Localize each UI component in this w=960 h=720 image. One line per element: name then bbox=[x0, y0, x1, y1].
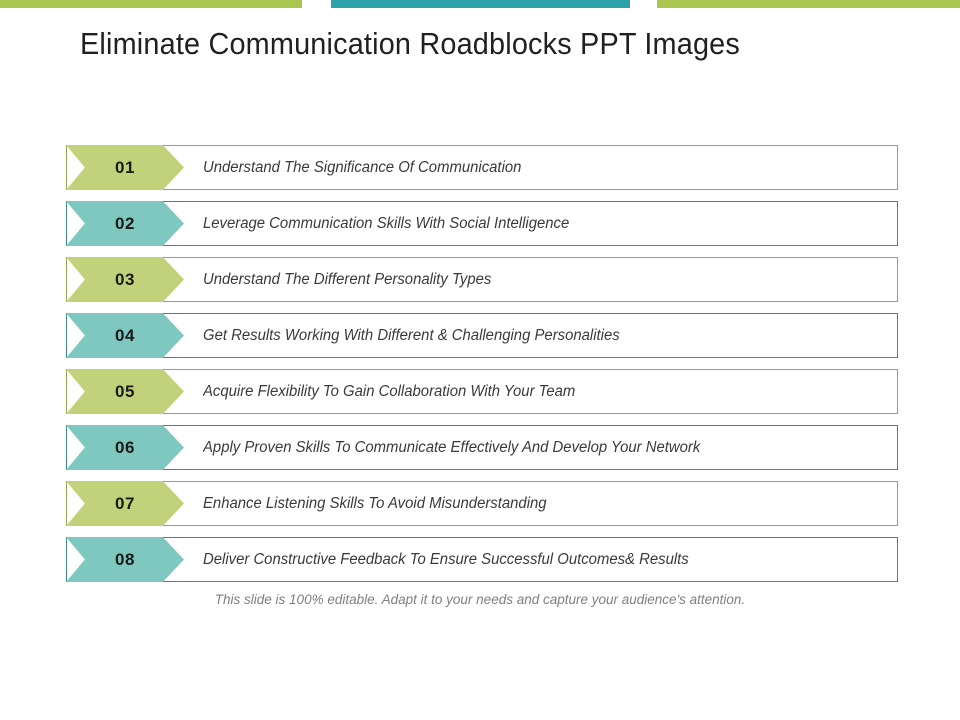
list-item[interactable]: 06Apply Proven Skills To Communicate Eff… bbox=[66, 425, 898, 470]
list-item[interactable]: 05Acquire Flexibility To Gain Collaborat… bbox=[66, 369, 898, 414]
list-item[interactable]: 02Leverage Communication Skills With Soc… bbox=[66, 201, 898, 246]
editable-note: This slide is 100% editable. Adapt it to… bbox=[180, 588, 780, 611]
list-item-number: 03 bbox=[66, 257, 184, 302]
list-item-number: 08 bbox=[66, 537, 184, 582]
list-item-label: Acquire Flexibility To Gain Collaboratio… bbox=[203, 369, 857, 414]
list-item-number: 07 bbox=[66, 481, 184, 526]
left-green-bar bbox=[0, 0, 302, 8]
list-item-label: Understand The Different Personality Typ… bbox=[203, 257, 857, 302]
list-item-number: 02 bbox=[66, 201, 184, 246]
list-item[interactable]: 07Enhance Listening Skills To Avoid Misu… bbox=[66, 481, 898, 526]
list-item-label: Leverage Communication Skills With Socia… bbox=[203, 201, 857, 246]
list-item[interactable]: 08Deliver Constructive Feedback To Ensur… bbox=[66, 537, 898, 582]
list-item-label: Apply Proven Skills To Communicate Effec… bbox=[203, 425, 857, 470]
list-item-label: Understand The Significance Of Communica… bbox=[203, 145, 857, 190]
list-item-number: 04 bbox=[66, 313, 184, 358]
list-item-number: 01 bbox=[66, 145, 184, 190]
center-teal-bar bbox=[331, 0, 630, 8]
top-decorative-bars bbox=[0, 0, 960, 8]
page-title: Eliminate Communication Roadblocks PPT I… bbox=[80, 22, 824, 66]
list-item-number: 05 bbox=[66, 369, 184, 414]
list-item-label: Deliver Constructive Feedback To Ensure … bbox=[203, 537, 857, 582]
list-item-number: 06 bbox=[66, 425, 184, 470]
right-green-bar bbox=[657, 0, 960, 8]
list-item-label: Get Results Working With Different & Cha… bbox=[203, 313, 857, 358]
list-item[interactable]: 01Understand The Significance Of Communi… bbox=[66, 145, 898, 190]
list-item[interactable]: 04Get Results Working With Different & C… bbox=[66, 313, 898, 358]
list-item-label: Enhance Listening Skills To Avoid Misund… bbox=[203, 481, 857, 526]
list-item[interactable]: 03Understand The Different Personality T… bbox=[66, 257, 898, 302]
